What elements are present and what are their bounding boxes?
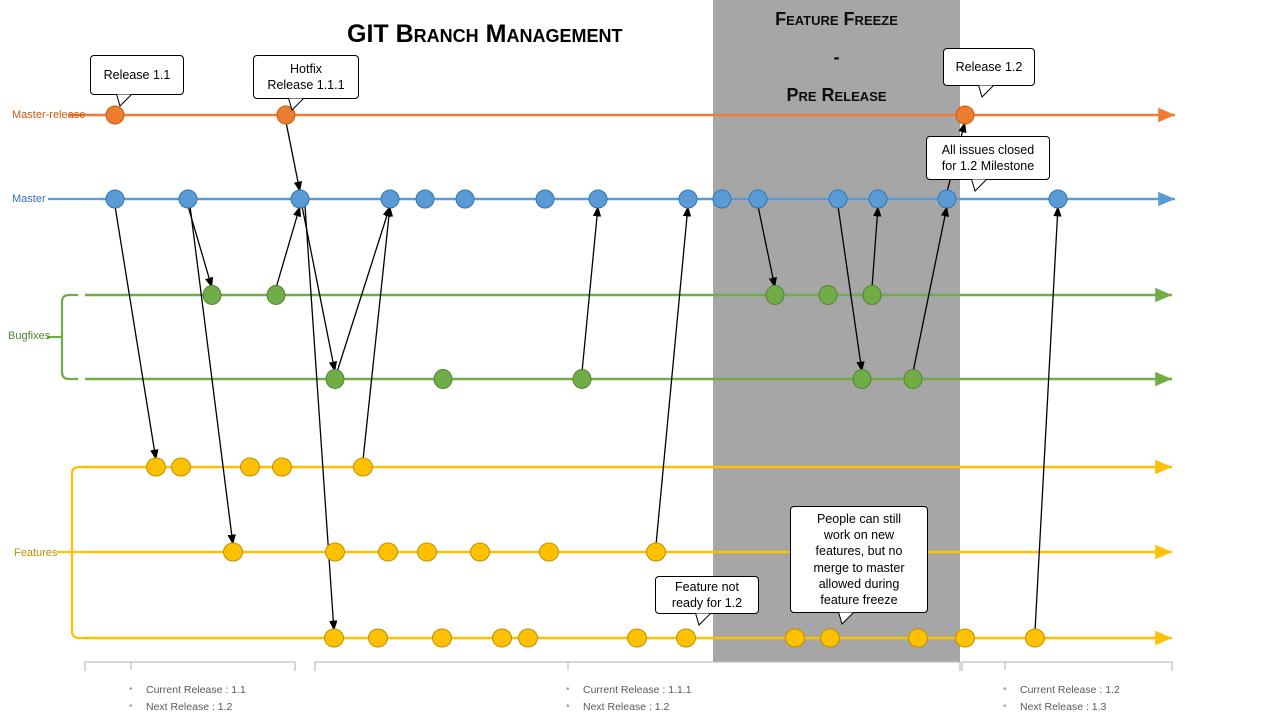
arrow-master-to-bugfix2c [838,206,862,372]
callout-text: Feature notready for 1.2 [672,579,742,612]
commit-node-master-12[interactable] [869,190,887,208]
commit-node-feature-2-0[interactable] [224,543,243,561]
callout-text: HotfixRelease 1.1.1 [267,61,344,94]
footer-bullet: • [129,684,133,695]
footer-note-release-1-1-group-0: Current Release : 1.1 [146,684,246,696]
commit-node-feature-2-2[interactable] [379,543,398,561]
commit-node-feature-2-6[interactable] [647,543,666,561]
commit-node-bugfix-1-0[interactable] [203,286,221,305]
commit-node-master-0[interactable] [106,190,124,208]
callout-text: Release 1.1 [104,67,171,83]
commit-node-bugfix-1-3[interactable] [819,286,837,305]
callout-text: People can stillwork on newfeatures, but… [813,511,904,609]
freeze-line-2: - [713,38,960,76]
callout-tail-feature-not-ready [695,613,713,627]
arrow-bugfix1-to-master [276,206,300,288]
arrow-masterrelease-to-master [286,122,300,192]
commit-node-bugfix-1-2[interactable] [766,286,784,305]
commit-node-master-9[interactable] [713,190,731,208]
commit-node-feature-3-0[interactable] [325,629,344,647]
callout-feature-not-ready: Feature notready for 1.2 [655,576,759,614]
diagram-svg [0,0,1280,720]
commit-node-feature-2-5[interactable] [540,543,559,561]
arrow-bugfix2b-to-master [582,206,598,372]
arrow-bugfix1b-to-master [872,206,878,288]
freeze-line-3: Pre Release [713,76,960,114]
commit-node-feature-1-2[interactable] [241,458,260,476]
commit-node-master-5[interactable] [456,190,474,208]
commit-node-feature-3-4[interactable] [519,629,538,647]
callout-tail-feature-freeze-note [838,612,856,626]
footer-note-release-1-1-group-1: Next Release : 1.2 [146,701,232,713]
branch-label-bugfixes: Bugfixes [8,330,50,342]
commit-node-feature-3-11[interactable] [1026,629,1045,647]
commit-node-feature-3-9[interactable] [909,629,928,647]
commit-node-bugfix-2-4[interactable] [904,370,922,389]
commit-node-feature-3-2[interactable] [433,629,452,647]
commit-node-master-1[interactable] [179,190,197,208]
footer-note-release-1-1-1-group-1: Next Release : 1.2 [583,701,669,713]
title-rest: Branch Management [396,20,623,48]
commit-node-bugfix-1-1[interactable] [267,286,285,305]
title-git: GIT [347,20,389,48]
arrow-master-to-feature3 [305,206,334,631]
callout-feature-freeze-note: People can stillwork on newfeatures, but… [790,506,928,613]
arrow-master-to-feature2 [190,206,233,545]
footer-bracket-release-1-1-1-group [315,662,960,671]
commit-node-master-2[interactable] [291,190,309,208]
diagram-canvas: GIT Branch Management Feature Freeze - P… [0,0,1280,720]
commit-node-feature-3-5[interactable] [628,629,647,647]
footer-bracket-release-1-1-group [85,662,295,671]
callout-hotfix-release: HotfixRelease 1.1.1 [253,55,359,99]
group-brackets-layer [47,295,88,638]
commit-node-master-10[interactable] [749,190,767,208]
footer-note-release-1-2-group-0: Current Release : 1.2 [1020,684,1120,696]
commit-node-feature-1-0[interactable] [147,458,166,476]
branch-label-features: Features [14,547,57,559]
commit-node-master-11[interactable] [829,190,847,208]
footer-note-release-1-2-group-1: Next Release : 1.3 [1020,701,1106,713]
commit-node-feature-3-10[interactable] [956,629,975,647]
arrow-bugfix2-to-master [337,206,390,372]
commit-node-feature-2-1[interactable] [326,543,345,561]
commit-node-master-13[interactable] [938,190,956,208]
arrow-feature3-to-master [1035,206,1058,631]
commit-node-bugfix-2-1[interactable] [434,370,452,389]
callout-tail-all-issues-closed [971,179,989,193]
commit-node-bugfix-2-2[interactable] [573,370,591,389]
arrow-bugfix2d-to-master [913,206,947,372]
commit-node-bugfix-2-3[interactable] [853,370,871,389]
commit-node-feature-2-3[interactable] [418,543,437,561]
commit-node-feature-3-6[interactable] [677,629,696,647]
branch-lines-layer [48,115,1175,638]
commit-node-feature-3-3[interactable] [493,629,512,647]
commit-node-feature-3-1[interactable] [369,629,388,647]
footer-bullet: • [566,701,570,712]
commit-node-feature-2-4[interactable] [471,543,490,561]
commit-node-feature-1-3[interactable] [273,458,292,476]
branch-label-master: Master [12,193,46,205]
arrow-master-to-bugfix1b [758,206,775,288]
commit-node-master-4[interactable] [416,190,434,208]
commit-node-master-14[interactable] [1049,190,1067,208]
footer-bracket-release-1-2-group [962,662,1172,671]
commit-node-master-3[interactable] [381,190,399,208]
footer-bullet: • [566,684,570,695]
commit-node-feature-1-1[interactable] [172,458,191,476]
branch-label-master-release: Master-release [12,109,85,121]
callout-release-1-2: Release 1.2 [943,48,1035,86]
arrow-feature2-to-master [656,206,688,545]
commit-node-feature-3-7[interactable] [786,629,805,647]
callout-tail-release-1-2 [978,85,996,99]
callout-tail-release-1-1 [116,94,134,108]
commit-node-bugfix-2-0[interactable] [326,370,344,389]
commit-node-master-7[interactable] [589,190,607,208]
commit-node-feature-1-4[interactable] [354,458,373,476]
bracket-bugfixes [62,295,78,379]
feature-freeze-title: Feature Freeze - Pre Release [713,0,960,114]
callout-text: All issues closedfor 1.2 Milestone [942,142,1034,175]
commit-node-feature-3-8[interactable] [821,629,840,647]
arrow-feature1-to-master [363,206,390,460]
page-title: GIT Branch Management [347,20,622,49]
callout-release-1-1: Release 1.1 [90,55,184,95]
arrow-master-to-feature1 [115,206,156,460]
commit-node-master-release-0[interactable] [106,106,124,124]
footer-brackets-layer [85,662,1172,671]
footer-bullet: • [1003,684,1007,695]
callout-text: Release 1.2 [956,59,1023,75]
freeze-line-1: Feature Freeze [713,0,960,38]
callout-all-issues-closed: All issues closedfor 1.2 Milestone [926,136,1050,180]
commit-node-bugfix-1-4[interactable] [863,286,881,305]
footer-note-release-1-1-1-group-0: Current Release : 1.1.1 [583,684,692,696]
commit-node-master-6[interactable] [536,190,554,208]
footer-bullet: • [1003,701,1007,712]
callout-tail-hotfix-release [288,98,306,112]
commit-node-master-8[interactable] [679,190,697,208]
footer-bullet: • [129,701,133,712]
